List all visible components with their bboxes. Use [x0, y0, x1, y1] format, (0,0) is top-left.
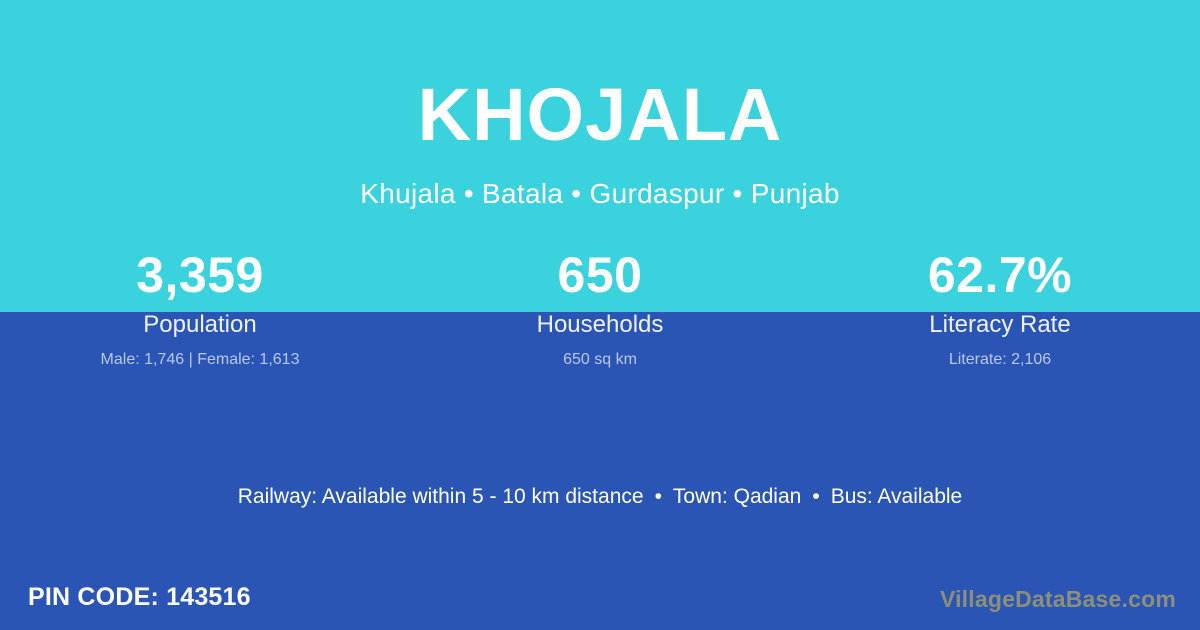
stat-population-sub: Male: 1,746 | Female: 1,613	[0, 350, 400, 370]
pin-code: PIN CODE: 143516	[28, 583, 251, 612]
footer: PIN CODE: 143516 VillageDataBase.com	[0, 568, 1200, 630]
amenity-town: Town: Qadian	[673, 485, 801, 508]
amenities-line: Railway: Available within 5 - 10 km dist…	[0, 485, 1200, 509]
village-info-card: KHOJALA Khujala • Batala • Gurdaspur • P…	[0, 0, 1200, 630]
stats-row: 3,359 Population Male: 1,746 | Female: 1…	[0, 244, 1200, 370]
amenity-railway: Railway: Available within 5 - 10 km dist…	[238, 485, 644, 508]
stat-literacy-rate-value: 62.7%	[800, 244, 1200, 306]
amenity-bus: Bus: Available	[831, 485, 963, 508]
stat-literacy-rate-sub: Literate: 2,106	[800, 350, 1200, 370]
stat-households: 650 Households 650 sq km	[400, 244, 800, 370]
stat-literacy-rate-label: Literacy Rate	[800, 310, 1200, 340]
brand-watermark: VillageDataBase.com	[940, 586, 1176, 613]
stat-households-label: Households	[400, 310, 800, 340]
header: KHOJALA Khujala • Batala • Gurdaspur • P…	[0, 0, 1200, 210]
page-title: KHOJALA	[0, 78, 1200, 152]
stat-population-label: Population	[0, 310, 400, 340]
amenity-separator-1: •	[644, 485, 673, 509]
stat-population-value: 3,359	[0, 244, 400, 306]
stat-literacy-rate: 62.7% Literacy Rate Literate: 2,106	[800, 244, 1200, 370]
amenity-separator-2: •	[801, 485, 830, 509]
stat-households-value: 650	[400, 244, 800, 306]
stat-population: 3,359 Population Male: 1,746 | Female: 1…	[0, 244, 400, 370]
breadcrumb: Khujala • Batala • Gurdaspur • Punjab	[0, 178, 1200, 210]
stat-households-sub: 650 sq km	[400, 350, 800, 370]
